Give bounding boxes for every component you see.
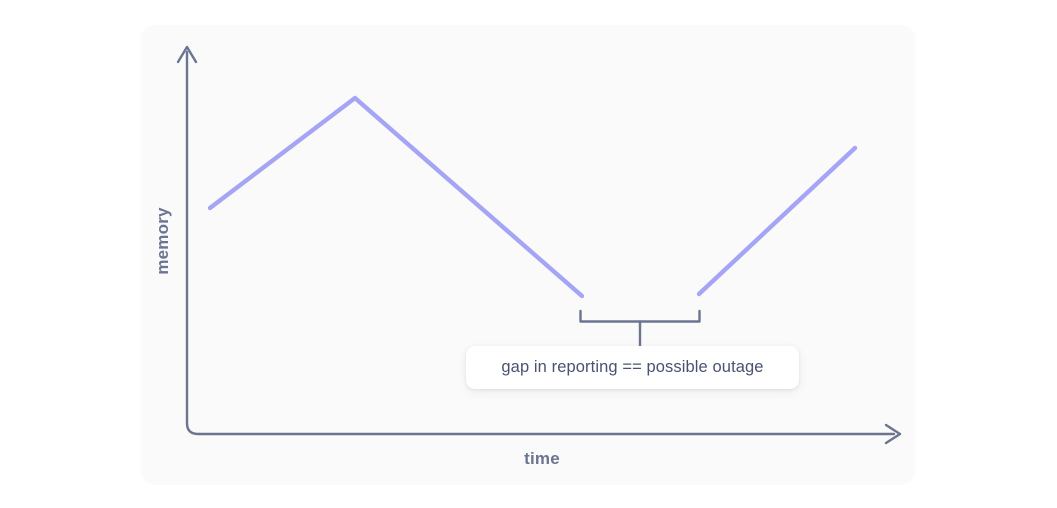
y-axis-label: memory xyxy=(153,207,172,275)
gap-bracket xyxy=(581,311,700,347)
memory-line-series xyxy=(210,98,855,296)
screenshot-root: time memory gap in reporting == possible… xyxy=(0,0,1057,508)
x-axis-label: time xyxy=(524,449,560,468)
gap-annotation-tooltip: gap in reporting == possible outage xyxy=(466,346,799,389)
memory-line-segment-after-gap xyxy=(699,148,855,294)
memory-line-segment-before-gap xyxy=(210,98,582,296)
gap-annotation-text: gap in reporting == possible outage xyxy=(501,358,763,377)
gap-bracket-path xyxy=(581,311,700,322)
memory-over-time-chart: time memory xyxy=(0,0,1057,508)
